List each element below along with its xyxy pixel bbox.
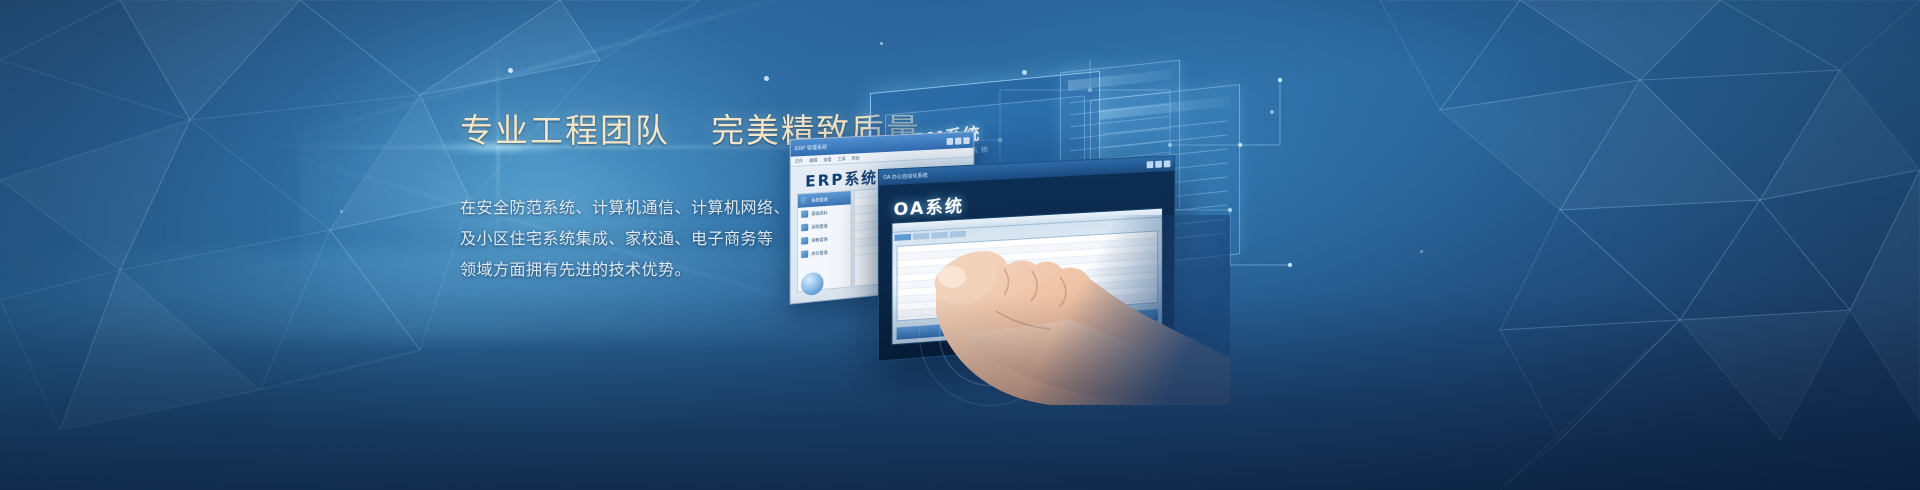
minimize-icon[interactable] (947, 137, 953, 144)
erp-menu-item[interactable]: 文件 (795, 156, 803, 166)
oa-window-title: OA系统 (893, 191, 964, 220)
erp-menu-item[interactable]: 编辑 (809, 155, 817, 165)
tab-active[interactable] (894, 234, 910, 241)
oa-content-area[interactable] (891, 208, 1162, 346)
action-button[interactable] (951, 320, 1003, 336)
panel-header-band (1100, 96, 1230, 120)
folder-icon (801, 237, 808, 245)
oa-window-controls[interactable] (1147, 160, 1171, 168)
panel-row (1103, 134, 1227, 148)
folder-icon (801, 210, 808, 218)
oa-titlebar-text: OA 办公自动化系统 (883, 172, 928, 181)
folder-icon (801, 197, 808, 205)
bokeh-dot (340, 210, 343, 213)
sidebar-item-label: 基础资料 (811, 209, 827, 216)
folder-icon (801, 250, 808, 258)
tab-item[interactable] (913, 233, 929, 240)
minimize-icon[interactable] (1147, 161, 1154, 168)
action-button[interactable] (1109, 309, 1158, 324)
action-button[interactable] (897, 324, 949, 340)
close-icon[interactable] (963, 137, 969, 144)
action-button[interactable] (1057, 312, 1107, 328)
sidebar-item-label: 系统管理 (811, 196, 827, 203)
promo-banner: 专业工程团队 完美精致质量 在安全防范系统、计算机通信、计算机网络、智能大厦 及… (0, 0, 1920, 490)
tab-item[interactable] (931, 232, 947, 239)
oa-data-grid[interactable] (897, 230, 1159, 321)
tab-item[interactable] (950, 231, 966, 238)
panel-row (1103, 120, 1227, 134)
oa-window[interactable]: OA 办公自动化系统 OA系统 (878, 155, 1175, 361)
bokeh-dot (508, 68, 513, 73)
erp-menu-item[interactable]: 工具 (838, 154, 846, 164)
sidebar-item-label: 销售管理 (811, 236, 827, 243)
panel-header-band (1068, 70, 1172, 91)
erp-menu-item[interactable]: 帮助 (852, 153, 860, 163)
sidebar-item-inventory[interactable]: 库存管理 (798, 244, 851, 262)
software-screens-illustration: CRM系统 客户关系管理系统 (760, 40, 1320, 370)
maximize-icon[interactable] (955, 137, 961, 144)
close-icon[interactable] (1164, 160, 1171, 167)
globe-icon (801, 272, 823, 297)
maximize-icon[interactable] (1155, 161, 1162, 168)
folder-icon (801, 224, 808, 232)
erp-window-controls[interactable] (947, 137, 970, 145)
erp-menu-item[interactable]: 查看 (824, 155, 832, 165)
sidebar-item-label: 采购管理 (811, 223, 827, 230)
erp-titlebar-text: ERP 管理系统 (795, 143, 827, 152)
bokeh-dot (1420, 250, 1423, 253)
headline-part-1: 专业工程团队 (460, 111, 670, 150)
action-button[interactable] (1005, 316, 1056, 332)
sidebar-item-label: 库存管理 (811, 249, 827, 256)
